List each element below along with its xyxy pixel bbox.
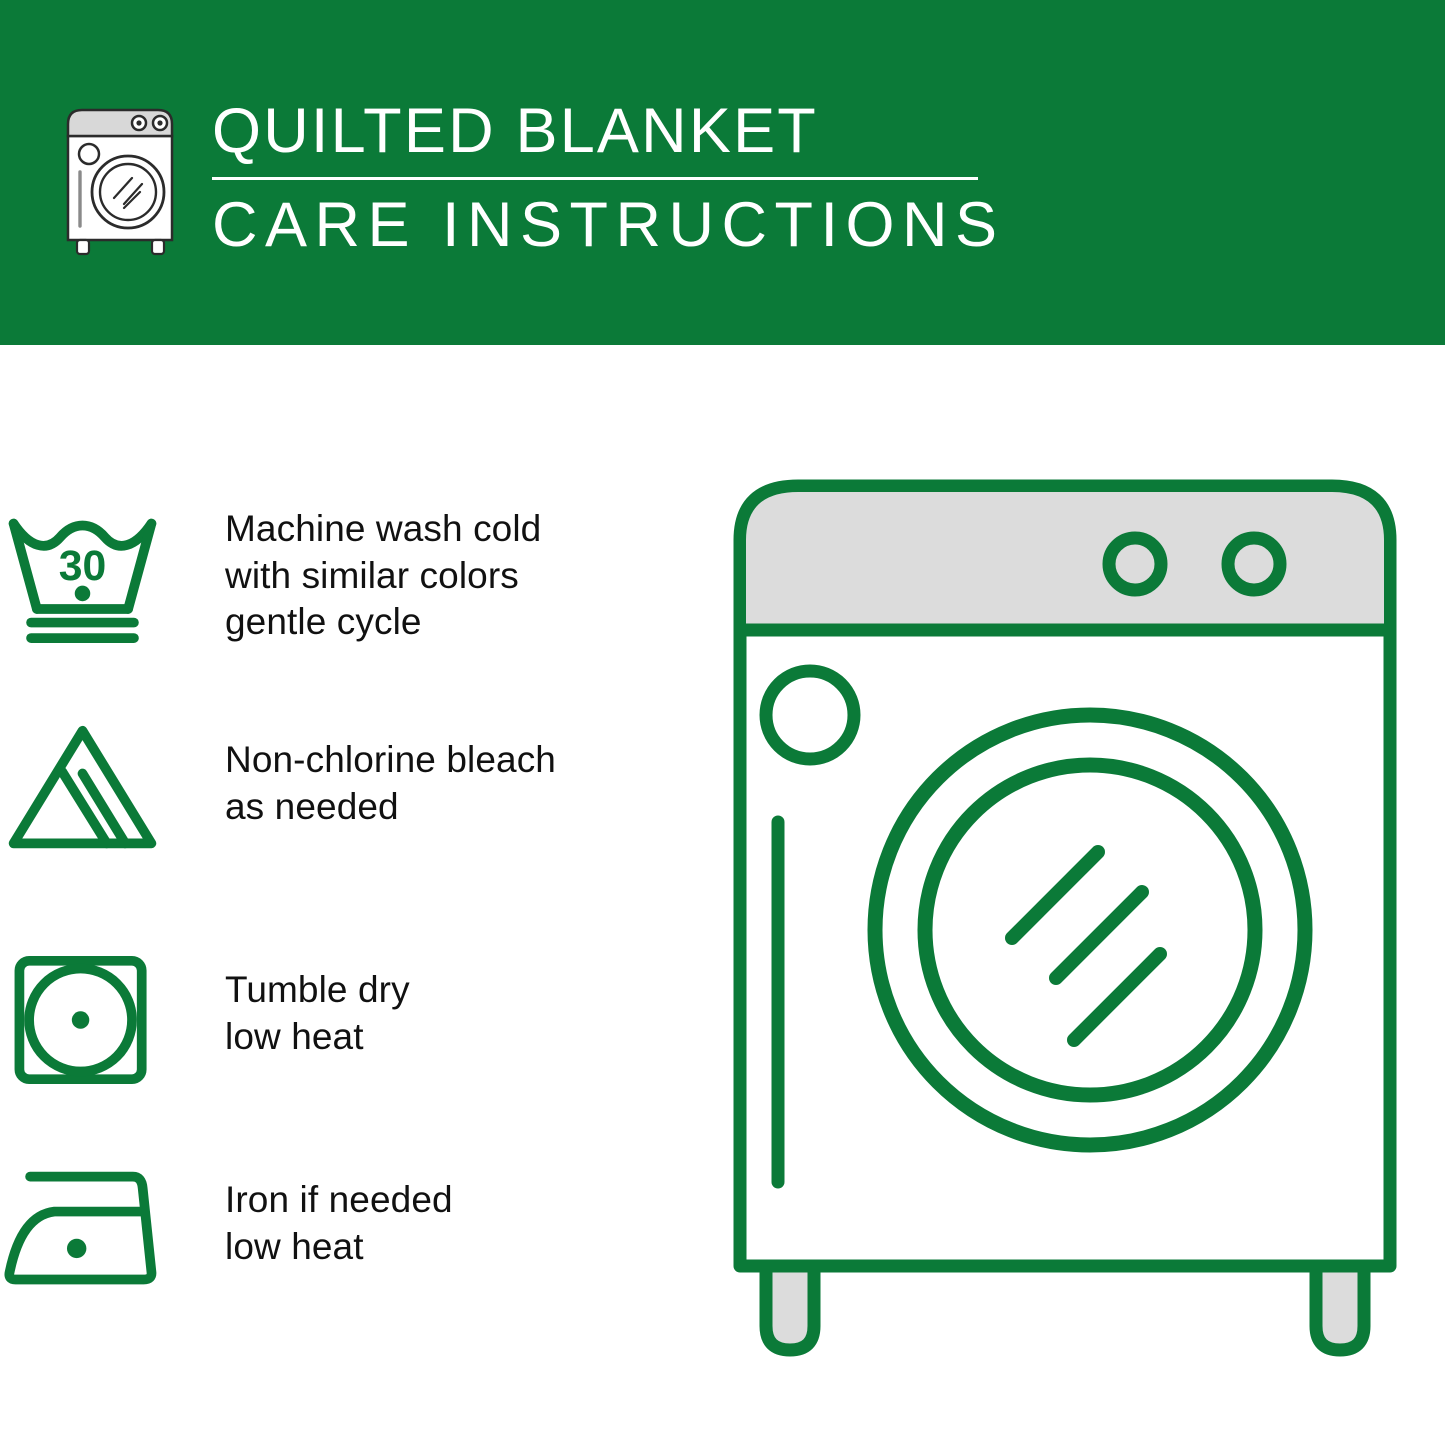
header-content: QUILTED BLANKET CARE INSTRUCTIONS xyxy=(62,96,1005,258)
non-chlorine-bleach-triangle-icon xyxy=(0,715,165,865)
control-knob-left xyxy=(1109,538,1161,590)
care-label-iron: Iron if needed low heat xyxy=(225,1155,453,1270)
care-row-tumble-dry: Tumble dry low heat xyxy=(0,945,640,1095)
control-knob-right xyxy=(1228,538,1280,590)
tumble-dry-low-icon xyxy=(0,945,165,1095)
dispenser-circle xyxy=(766,671,854,759)
svg-text:30: 30 xyxy=(59,542,106,590)
washing-machine-icon xyxy=(62,104,184,256)
header-banner: QUILTED BLANKET CARE INSTRUCTIONS xyxy=(0,0,1445,345)
title-divider xyxy=(212,177,978,180)
machine-leg-right xyxy=(1316,1260,1364,1350)
care-row-iron: Iron if needed low heat xyxy=(0,1155,640,1305)
header-title-group: QUILTED BLANKET CARE INSTRUCTIONS xyxy=(212,96,1005,258)
door-inner-ring xyxy=(925,765,1255,1095)
front-load-washing-machine-illustration xyxy=(720,470,1410,1370)
care-instructions-page: QUILTED BLANKET CARE INSTRUCTIONS 30 xyxy=(0,0,1445,1445)
machine-leg-left xyxy=(766,1260,814,1350)
care-row-machine-wash: 30 Machine wash cold with similar colors… xyxy=(0,500,640,650)
page-title: QUILTED BLANKET xyxy=(212,98,1005,164)
iron-low-heat-icon xyxy=(0,1155,165,1305)
care-label-bleach: Non-chlorine bleach as needed xyxy=(225,715,556,830)
care-label-machine-wash: Machine wash cold with similar colors ge… xyxy=(225,500,541,646)
care-label-tumble-dry: Tumble dry low heat xyxy=(225,945,410,1060)
page-subtitle: CARE INSTRUCTIONS xyxy=(212,192,1005,258)
care-row-bleach: Non-chlorine bleach as needed xyxy=(0,715,640,865)
wash-tub-30-gentle-icon: 30 xyxy=(0,500,165,650)
